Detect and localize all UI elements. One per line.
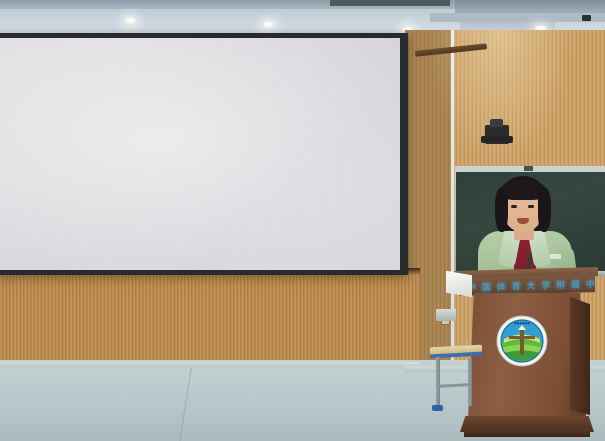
podium-base-plinth [464, 429, 590, 437]
presentation-slide: 01 What is “English” ? “英语”是什么？ [0, 38, 400, 270]
ceiling-panel [430, 13, 605, 22]
podium-banner: 中 国 体 育 大 学 附 属 中 学 [459, 274, 595, 296]
podium-paper-sheet [446, 271, 472, 298]
classroom-scene: 01 What is “English” ? “英语”是什么？ [0, 0, 605, 441]
ceiling-sensor-icon [582, 15, 591, 21]
presenter-eye [528, 205, 534, 208]
podium-side-panel [570, 297, 590, 415]
presenter-hair-side [495, 188, 508, 232]
podium-banner-text: 中 国 体 育 大 学 附 属 中 学 [467, 277, 593, 294]
school-crest-icon: ●●●●●● [496, 315, 548, 367]
ceiling-downlight-icon [262, 21, 275, 29]
stool-foot [432, 405, 443, 411]
sparkle-icon [362, 234, 373, 245]
wall-wainscot-panel [0, 268, 420, 368]
stool-leg [436, 357, 440, 407]
stool-leg [468, 358, 472, 406]
wall-mounted-camera-icon [485, 125, 509, 144]
presenter-hair-side [538, 188, 551, 232]
floor-skirting [0, 362, 420, 367]
slide-title-english: What is “English” ? [127, 184, 339, 211]
heart-outline-icon [283, 138, 299, 153]
ceiling-downlight-icon [124, 17, 137, 25]
blackboard-clip-icon [524, 166, 533, 171]
sparkle-icon [344, 162, 357, 175]
projection-screen: 01 What is “English” ? “英语”是什么？ [0, 38, 400, 270]
jacket-logo [550, 254, 561, 259]
slide-section-number: 01 [299, 147, 332, 179]
stool-crossbar [436, 383, 470, 388]
ceiling-panel [455, 0, 605, 13]
svg-text:●●●●●●: ●●●●●● [514, 321, 530, 325]
presenter-eye [511, 205, 517, 208]
ceiling-panel [330, 0, 450, 6]
projection-screen-frame: 01 What is “English” ? “英语”是什么？ [0, 33, 408, 275]
pencil-illustration [74, 126, 114, 238]
podium-side-shelf [436, 309, 456, 321]
stool [428, 346, 484, 412]
slide-title-chinese: “英语”是什么？ [159, 223, 266, 243]
